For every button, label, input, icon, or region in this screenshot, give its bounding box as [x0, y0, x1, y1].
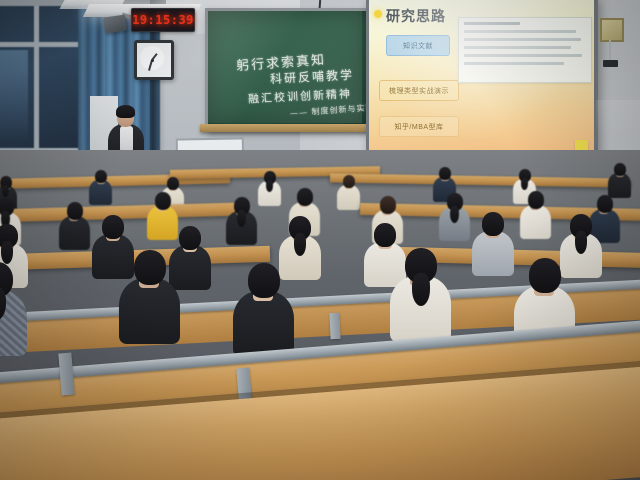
lecturer-shirt — [120, 126, 133, 152]
led-clock-time: 19:15:39 — [132, 13, 194, 27]
slide-bullet-icon — [374, 10, 382, 18]
card-text-line — [464, 54, 582, 57]
student-ponytail — [294, 233, 306, 256]
student-head — [439, 167, 451, 180]
student-torso — [520, 205, 551, 239]
student-head — [155, 192, 171, 210]
student-ponytail — [266, 180, 273, 192]
student-head — [167, 177, 179, 190]
student-head — [529, 258, 561, 293]
student-head — [297, 188, 313, 206]
chalkboard-ledge — [200, 124, 372, 132]
window-mullion-horizontal — [0, 42, 84, 47]
wall-signage — [596, 100, 640, 136]
desk-bracket — [329, 313, 340, 339]
wall-device — [603, 60, 618, 67]
student-head — [614, 163, 626, 176]
window-glass-reflection — [0, 50, 28, 140]
student-ponytail — [1, 241, 13, 264]
student-ponytail — [450, 206, 459, 223]
student-head — [134, 250, 166, 285]
student-torso — [59, 216, 90, 250]
student-ponytail — [412, 273, 430, 306]
student-head — [597, 195, 613, 213]
slide-text-card — [458, 17, 592, 83]
student-head — [102, 215, 124, 239]
card-text-line — [464, 62, 564, 65]
student-torso — [92, 234, 134, 279]
student-head — [179, 226, 201, 250]
student-head — [528, 191, 544, 209]
wall-device-stem — [609, 40, 611, 60]
card-heading-line — [464, 22, 520, 25]
card-text-line — [464, 38, 581, 41]
lecture-hall-photo: 19:15:39 躬行求索真知 科研反哺教学 融汇校训创新精神 —— 制度创新与… — [0, 0, 640, 480]
slide-title: 研究思路 — [386, 6, 446, 26]
student-head — [380, 196, 396, 214]
clock-center-dot — [151, 59, 154, 62]
analog-wall-clock — [134, 40, 174, 80]
student-head — [374, 223, 396, 247]
student-head — [248, 263, 280, 298]
student-torso — [147, 206, 178, 240]
slide-flow-box-1: 知识文献 — [386, 35, 450, 56]
slide-flow-box-3: 知乎/MBA型库 — [379, 116, 459, 137]
student-ponytail — [575, 231, 587, 254]
lecturer-hair — [116, 105, 135, 118]
card-text-line — [464, 30, 576, 33]
wall-speaker-icon — [103, 15, 127, 34]
wall-plaque — [600, 18, 624, 42]
student-ponytail — [2, 185, 9, 197]
slide-flow-box-2: 梳理类型实战演示 — [379, 80, 459, 101]
student-torso — [337, 185, 360, 210]
student-head — [482, 212, 504, 236]
digital-led-clock: 19:15:39 — [131, 8, 195, 32]
student-head — [95, 170, 107, 183]
card-text-line — [464, 46, 571, 49]
student-head — [67, 202, 83, 220]
